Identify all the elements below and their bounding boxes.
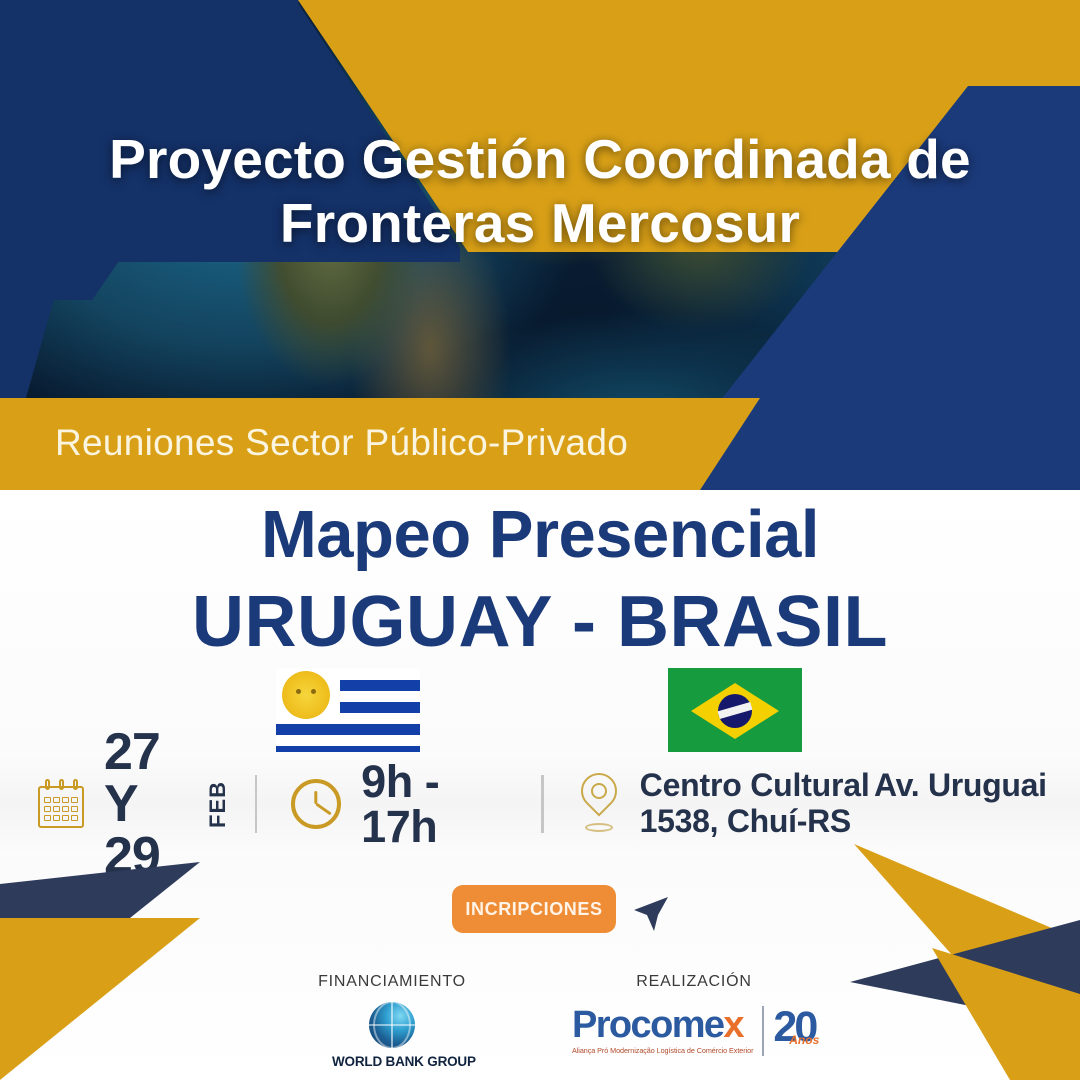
clock-icon <box>291 779 341 829</box>
hero-title: Proyecto Gestión Coordinada de Fronteras… <box>0 128 1080 256</box>
brazil-flag <box>668 668 802 754</box>
anniversary-word: Anos <box>789 1033 819 1047</box>
date-block: 27 Y 29 FEB <box>36 726 229 882</box>
event-flyer: Proyecto Gestión Coordinada de Fronteras… <box>0 0 1080 1080</box>
procomex-logo: Procomex Aliança Pró Modernização Logíst… <box>572 1006 858 1056</box>
time-block: 9h - 17h <box>291 759 463 849</box>
location-block: Centro Cultural Av. Uruguai 1538, Chuí-R… <box>576 768 1080 840</box>
uruguay-stripe <box>340 702 420 713</box>
event-days: 27 Y 29 <box>104 726 203 882</box>
headline-countries: URUGUAY - BRASIL <box>0 585 1080 661</box>
procomex-separator <box>762 1006 764 1056</box>
event-month: FEB <box>207 781 229 828</box>
procomex-tagline: Aliança Pró Modernização Logística de Co… <box>572 1046 753 1055</box>
info-divider-2 <box>541 775 543 833</box>
uruguay-stripe <box>340 680 420 691</box>
map-pin-icon <box>576 773 622 835</box>
world-bank-name: WORLD BANK GROUP <box>332 1054 452 1069</box>
venue-name: Centro Cultural <box>640 767 870 803</box>
world-bank-globe-icon <box>369 1002 415 1048</box>
banner-subtitle: Reuniones Sector Público-Privado <box>55 422 628 464</box>
procomex-wordmark: Procomex <box>572 1006 753 1044</box>
event-time: 9h - 17h <box>361 759 463 849</box>
uruguay-flag <box>276 668 420 754</box>
procomex-anniversary: 20 Anos <box>773 1006 815 1049</box>
uruguay-stripe <box>276 724 420 735</box>
realization-label: REALIZACIÓN <box>574 973 814 991</box>
procomex-name-accent: x <box>723 1004 743 1046</box>
sun-of-may-icon <box>282 671 330 719</box>
procomex-name-main: Procome <box>572 1004 723 1046</box>
mouse-cursor-icon <box>630 893 670 937</box>
headline-primary: Mapeo Presencial <box>0 500 1080 570</box>
event-info-bar: 27 Y 29 FEB 9h - 17h Centro Cultural Av.… <box>0 752 1080 856</box>
calendar-icon <box>36 778 88 830</box>
financing-label: FINANCIAMIENTO <box>272 973 512 991</box>
world-bank-logo: WORLD BANK GROUP <box>332 1002 452 1069</box>
registration-button[interactable]: INCRIPCIONES <box>452 885 616 933</box>
info-divider-1 <box>255 775 257 833</box>
